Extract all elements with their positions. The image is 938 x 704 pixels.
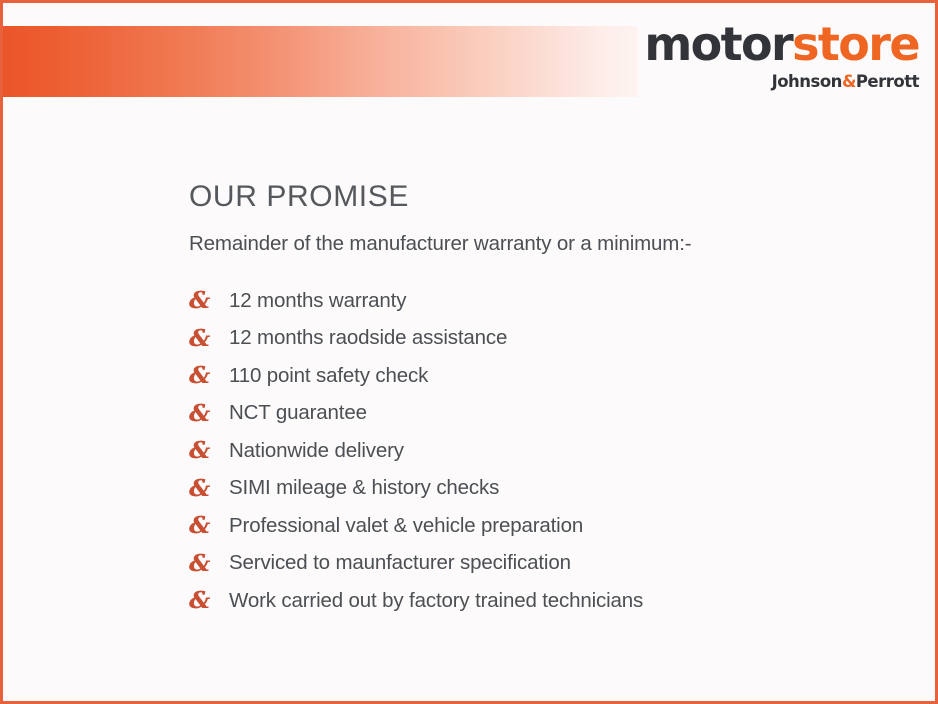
logo-motor-text: motor — [644, 17, 792, 71]
list-item: & 12 months warranty — [189, 282, 909, 320]
list-item-label: Serviced to maunfacturer specification — [229, 551, 571, 575]
list-item-label: NCT guarantee — [229, 401, 367, 425]
list-item-label: Work carried out by factory trained tech… — [229, 589, 643, 613]
brand-logo: motorstore Johnson&Perrott — [644, 21, 919, 91]
list-item: & SIMI mileage & history checks — [189, 470, 909, 508]
list-item-label: 12 months raodside assistance — [229, 326, 507, 350]
header-gradient-bar — [0, 26, 638, 97]
ampersand-bullet-icon: & — [189, 327, 229, 350]
logo-ampersand-icon: & — [842, 72, 856, 91]
ampersand-bullet-icon: & — [189, 402, 229, 425]
list-item-label: 12 months warranty — [229, 289, 406, 313]
logo-store-text: store — [792, 17, 919, 71]
list-item-label: 110 point safety check — [229, 364, 428, 388]
list-item: & 12 months raodside assistance — [189, 320, 909, 358]
promise-slide: motorstore Johnson&Perrott OUR PROMISE R… — [0, 0, 938, 704]
list-item-label: SIMI mileage & history checks — [229, 476, 499, 500]
ampersand-bullet-icon: & — [189, 289, 229, 312]
ampersand-bullet-icon: & — [189, 439, 229, 462]
list-item: & 110 point safety check — [189, 357, 909, 395]
list-item-label: Professional valet & vehicle preparation — [229, 514, 583, 538]
list-item: & Work carried out by factory trained te… — [189, 582, 909, 620]
list-item: & Nationwide delivery — [189, 432, 909, 470]
promise-subtitle: Remainder of the manufacturer warranty o… — [189, 232, 909, 257]
logo-wordmark: motorstore — [644, 21, 919, 67]
list-item-label: Nationwide delivery — [229, 439, 404, 463]
logo-subtitle: Johnson&Perrott — [644, 74, 919, 91]
list-item: & Serviced to maunfacturer specification — [189, 545, 909, 583]
logo-perrott-text: Perrott — [856, 72, 919, 91]
ampersand-bullet-icon: & — [189, 364, 229, 387]
slide-header: motorstore Johnson&Perrott — [3, 3, 935, 103]
ampersand-bullet-icon: & — [189, 589, 229, 612]
ampersand-bullet-icon: & — [189, 552, 229, 575]
ampersand-bullet-icon: & — [189, 514, 229, 537]
logo-johnson-text: Johnson — [772, 72, 842, 91]
slide-content: OUR PROMISE Remainder of the manufacture… — [189, 181, 909, 620]
ampersand-bullet-icon: & — [189, 477, 229, 500]
list-item: & Professional valet & vehicle preparati… — [189, 507, 909, 545]
promise-list: & 12 months warranty & 12 months raodsid… — [189, 282, 909, 620]
list-item: & NCT guarantee — [189, 395, 909, 433]
page-title: OUR PROMISE — [189, 181, 909, 213]
